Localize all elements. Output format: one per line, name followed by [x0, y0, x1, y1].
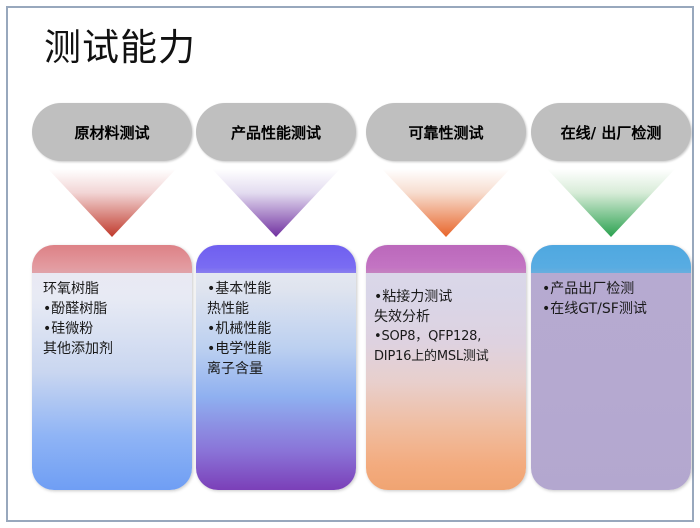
detail-box-header-band [531, 245, 691, 273]
list-item: 其他添加剂 [43, 339, 186, 359]
flow-column-product-performance: 产品性能测试 •基本性能 热性能 •机械性能 [196, 0, 356, 528]
detail-box-text-online-outgoing: •产品出厂检测 •在线GT/SF测试 [542, 279, 685, 319]
list-item: •产品出厂检测 [542, 279, 685, 299]
down-arrow-icon-product-performance [212, 169, 340, 237]
list-item: •酚醛树脂 [43, 299, 186, 319]
stage-pill-label: 原材料测试 [74, 122, 149, 143]
list-item: 热性能 [207, 299, 350, 319]
list-item: 离子含量 [207, 359, 350, 379]
stage-pill-label: 在线/ 出厂检测 [561, 122, 662, 143]
list-item: •SOP8，QFP128, [374, 327, 520, 347]
detail-box-header-band [366, 245, 526, 273]
detail-box-raw-material[interactable]: 环氧树脂 •酚醛树脂 •硅微粉 其他添加剂 [32, 245, 192, 490]
stage-pill-label: 产品性能测试 [231, 122, 321, 143]
down-arrow-icon-reliability [382, 169, 510, 237]
stage-pill-label: 可靠性测试 [408, 122, 483, 143]
stage-pill-reliability[interactable]: 可靠性测试 [366, 103, 526, 161]
detail-box-reliability[interactable]: •粘接力测试 失效分析 •SOP8，QFP128, DIP16上的MSL测试 [366, 245, 526, 490]
list-item: 失效分析 [374, 307, 520, 327]
detail-box-fill [366, 245, 526, 490]
down-arrow-icon-raw-material [48, 169, 176, 237]
detail-box-header-band [32, 245, 192, 273]
detail-box-text-product-performance: •基本性能 热性能 •机械性能 •电学性能 离子含量 [207, 279, 350, 379]
down-arrow-icon-online-outgoing [547, 169, 675, 237]
list-item: DIP16上的MSL测试 [374, 347, 520, 367]
stage-pill-product-performance[interactable]: 产品性能测试 [196, 103, 356, 161]
stage-pill-raw-material[interactable]: 原材料测试 [32, 103, 192, 161]
list-item: •电学性能 [207, 339, 350, 359]
flow-column-reliability: 可靠性测试 •粘接力测试 失效分析 •SOP8，QFP128, [366, 0, 526, 528]
list-item: •在线GT/SF测试 [542, 299, 685, 319]
detail-box-online-outgoing[interactable]: •产品出厂检测 •在线GT/SF测试 [531, 245, 691, 490]
flow-column-online-outgoing: 在线/ 出厂检测 •产品出厂检测 •在线GT/SF测试 [531, 0, 691, 528]
detail-box-product-performance[interactable]: •基本性能 热性能 •机械性能 •电学性能 离子含量 [196, 245, 356, 490]
detail-box-text-reliability: •粘接力测试 失效分析 •SOP8，QFP128, DIP16上的MSL测试 [374, 287, 520, 367]
detail-box-header-band [196, 245, 356, 273]
list-item: •硅微粉 [43, 319, 186, 339]
list-item: •机械性能 [207, 319, 350, 339]
stage-pill-online-outgoing[interactable]: 在线/ 出厂检测 [531, 103, 691, 161]
flow-column-raw-material: 原材料测试 环氧树脂 •酚醛树脂 •硅微粉 其 [32, 0, 192, 528]
list-item: •粘接力测试 [374, 287, 520, 307]
detail-box-text-raw-material: 环氧树脂 •酚醛树脂 •硅微粉 其他添加剂 [43, 279, 186, 359]
list-item: •基本性能 [207, 279, 350, 299]
list-item: 环氧树脂 [43, 279, 186, 299]
slide-canvas: 测试能力 原材料测试 环氧树脂 •酚醛树 [0, 0, 700, 528]
